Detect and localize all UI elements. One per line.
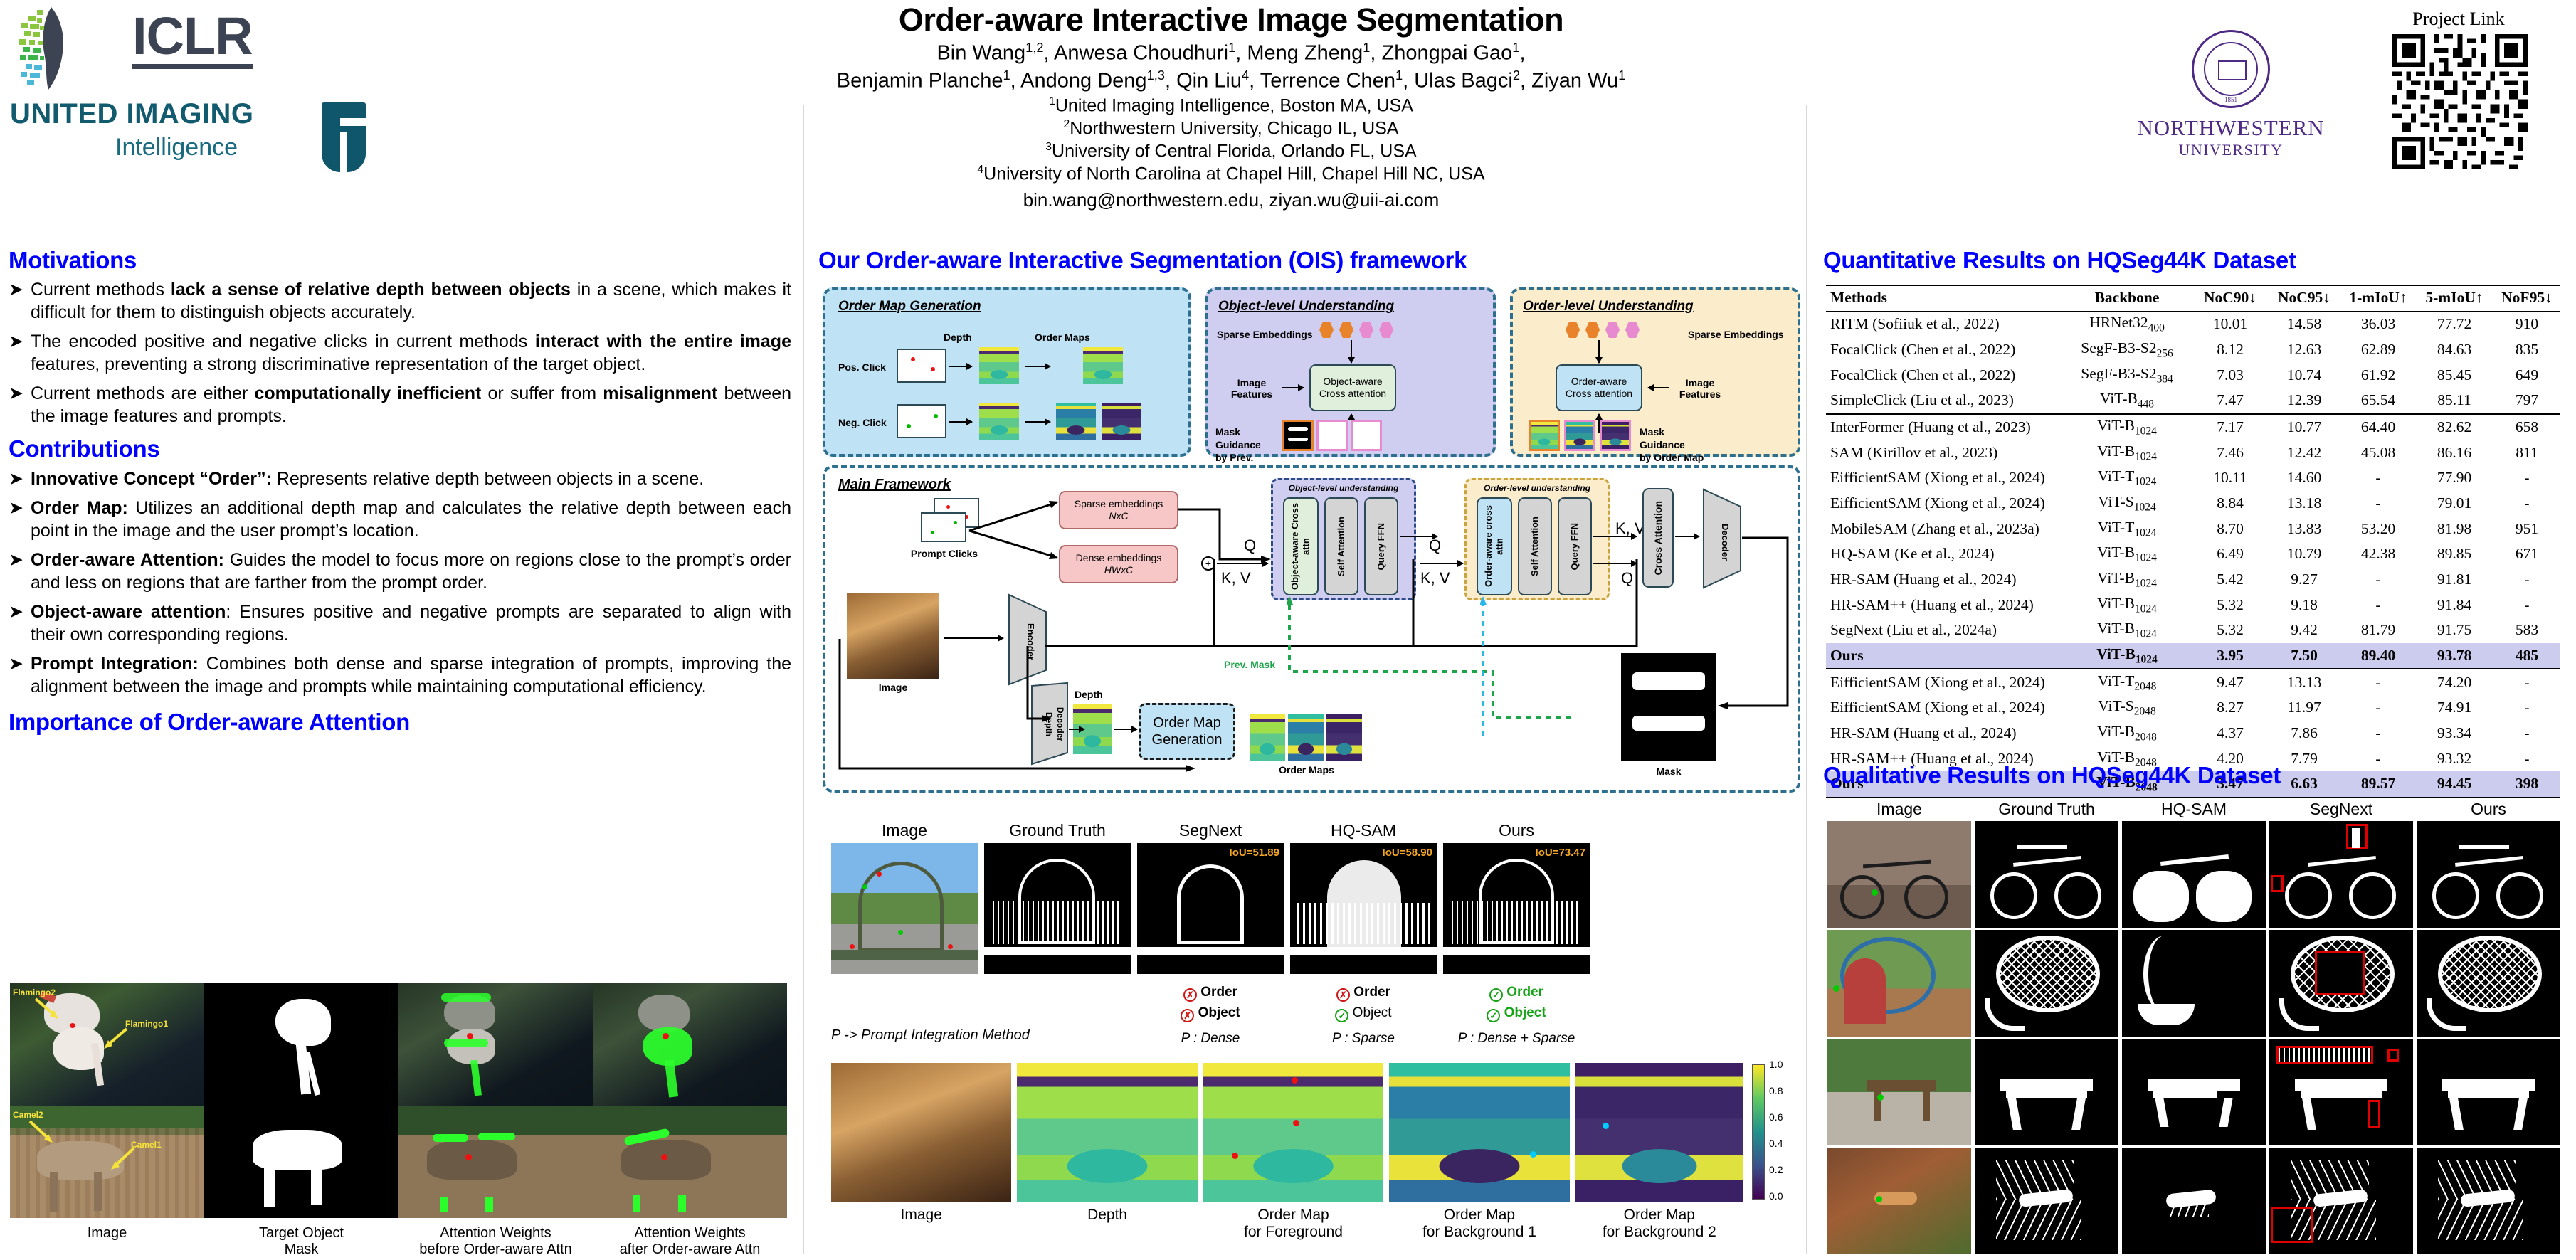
table-cell: HRNet32400 <box>2061 312 2193 337</box>
panel-heading: Order-level Understanding <box>1523 299 1694 314</box>
table-cell: EifficientSAM (Xiong et al., 2024) <box>1826 491 2061 517</box>
panel-heading: Order Map Generation <box>838 299 981 314</box>
row-table-hqsam <box>2122 1039 2266 1145</box>
arrow-icon <box>1282 387 1304 388</box>
om-label-bg2-2: for Background 2 <box>1575 1224 1743 1241</box>
list-item: ➤ Innovative Concept “Order”: Represents… <box>9 468 791 491</box>
row-racket-segnext <box>2269 930 2413 1037</box>
status-order-hqsam: ✗ Order <box>1290 985 1437 1002</box>
error-box-icon <box>2387 1049 2399 1062</box>
table-cell: HR-SAM (Huang et al., 2024) <box>1826 567 2061 593</box>
col-label-attn-before: Attention Weights <box>398 1225 593 1242</box>
table-cell: ViT-S1024 <box>2061 491 2193 517</box>
table-cell: 835 <box>2493 337 2560 363</box>
table-cell: HQ-SAM (Ke et al., 2024) <box>1826 541 2061 567</box>
table-cell: - <box>2493 592 2560 618</box>
table-cell: 74.91 <box>2415 695 2493 721</box>
table-cell: 7.46 <box>2193 440 2267 465</box>
table-cell: 93.34 <box>2415 721 2493 746</box>
table-cell: 93.32 <box>2415 746 2493 771</box>
col-label-attn-after-2: after Order-aware Attn <box>593 1242 787 1258</box>
table-row: HR-SAM (Huang et al., 2024)ViT-B10245.42… <box>1826 567 2560 593</box>
table-cell: ViT-B1024 <box>2061 592 2193 618</box>
table-cell: 11.97 <box>2267 695 2341 721</box>
arrow-icon <box>949 366 972 367</box>
section-title-qualitative-right: Qualitative Results on HQSeg44K Dataset <box>1823 763 2281 788</box>
token-pos-icon <box>1339 322 1353 338</box>
prompt-method-segnext: P : Dense <box>1137 1031 1284 1047</box>
table-cell: 10.01 <box>2193 312 2267 337</box>
table-cell: 61.92 <box>2341 362 2415 388</box>
bullet-arrow-icon: ➤ <box>9 331 23 376</box>
arrow-icon <box>1675 536 1699 537</box>
table-cell: SimpleClick (Liu et al., 2023) <box>1826 388 2061 414</box>
qr-col-hqsam: HQ-SAM <box>2122 800 2266 819</box>
table-cell: EifficientSAM (Xiong et al., 2024) <box>1826 465 2061 491</box>
table-cell: 7.86 <box>2267 721 2341 746</box>
table-cell: 91.75 <box>2415 618 2493 643</box>
arrow-icon <box>1400 536 1437 537</box>
table-cell: 7.03 <box>2193 362 2267 388</box>
group-heading: Order-level understanding <box>1467 483 1608 493</box>
status-object-segnext: ✗ Object <box>1137 1005 1284 1022</box>
order-map-bg2-thumb <box>1102 403 1141 440</box>
col-label-image: Image <box>10 1225 204 1242</box>
check-icon: ✓ <box>1489 988 1503 1002</box>
table-cell: 671 <box>2493 541 2560 567</box>
qr-code[interactable] <box>2392 34 2528 169</box>
table-cell: - <box>2493 746 2560 771</box>
table-cell: 5.32 <box>2193 618 2267 643</box>
decoder-to-mask-path <box>1714 536 1789 710</box>
table-cell: 12.63 <box>2267 337 2341 363</box>
table-cell: FocalClick (Chen et al., 2022) <box>1826 337 2061 363</box>
table-cell: 89.40 <box>2341 643 2415 669</box>
table-cell: ViT-B448 <box>2061 388 2193 414</box>
check-icon: ✓ <box>1487 1009 1500 1022</box>
table-cell: 8.84 <box>2193 491 2267 517</box>
arrow-icon <box>1025 421 1050 423</box>
order-map-bg1-thumb <box>1056 403 1096 440</box>
table-cell: 797 <box>2493 388 2560 414</box>
table-cell: 398 <box>2493 771 2560 797</box>
col-noc90: NoC90↓ <box>2193 285 2267 312</box>
iclr-logo: ICLR <box>10 4 380 95</box>
sparse-embedding-tokens <box>1566 322 1640 338</box>
prompt-branch-arrows <box>966 498 1060 562</box>
table-cell: ViT-B1024 <box>2061 414 2193 440</box>
order-map-thumb <box>1529 420 1560 451</box>
col-backbone: Backbone <box>2061 285 2193 312</box>
panel-heading: Object-level Understanding <box>1218 299 1394 314</box>
table-cell: ViT-B1024 <box>2061 643 2193 669</box>
table-row: InterFormer (Huang et al., 2023)ViT-B102… <box>1826 414 2560 440</box>
qr-col-gt: Ground Truth <box>1975 800 2118 819</box>
row-table-ours <box>2417 1039 2560 1145</box>
arrow-icon <box>1351 340 1352 363</box>
table-cell: 5.42 <box>2193 567 2267 593</box>
order-map-thumb <box>1250 714 1285 761</box>
list-item: ➤ Prompt Integration: Combines both dens… <box>9 653 791 698</box>
row-table-gt <box>1975 1039 2118 1145</box>
importance-figure-labels: Image Target Object Mask Attention Weigh… <box>10 1225 787 1258</box>
section-title-quantitative: Quantitative Results on HQSeg44K Dataset <box>1823 248 2296 273</box>
table-cell: 82.62 <box>2415 414 2493 440</box>
label-pos-click: Pos. Click <box>838 361 886 373</box>
bullet-arrow-icon: ➤ <box>9 653 23 698</box>
table-row: HR-SAM++ (Huang et al., 2024)ViT-B10245.… <box>1826 592 2560 618</box>
object-aware-cross-attention-node: Object-awareCross attention <box>1309 364 1396 411</box>
table-cell: 910 <box>2493 312 2560 337</box>
list-item: ➤ The encoded positive and negative clic… <box>9 331 791 376</box>
qual-hqsam-thumb: IoU=58.90 <box>1290 843 1437 974</box>
panel-order-map-generation: Order Map Generation Depth Order Maps Po… <box>823 287 1191 457</box>
table-cell: 79.01 <box>2415 491 2493 517</box>
table-row: EifficientSAM (Xiong et al., 2024)ViT-T2… <box>1826 669 2560 695</box>
table-cell: - <box>2341 491 2415 517</box>
cbar-tick: 0.0 <box>1769 1190 1783 1202</box>
table-cell: - <box>2341 465 2415 491</box>
col-nof95: NoF95↓ <box>2493 285 2560 312</box>
col-5miou: 5-mIoU↑ <box>2415 285 2493 312</box>
table-cell: 81.79 <box>2341 618 2415 643</box>
group-heading: Object-level understanding <box>1273 483 1414 493</box>
om-label-image: Image <box>831 1207 1011 1224</box>
table-cell: - <box>2493 465 2560 491</box>
table-cell: 81.98 <box>2415 516 2493 541</box>
row-bicycle-hqsam <box>2122 821 2266 928</box>
mask-thumb-outline <box>1351 420 1382 451</box>
bullet-arrow-icon: ➤ <box>9 601 23 646</box>
row-racket-hqsam <box>2122 930 2266 1037</box>
bullet-arrow-icon: ➤ <box>9 468 23 491</box>
table-cell: 9.47 <box>2193 669 2267 695</box>
status-object-hqsam: ✓ Object <box>1290 1005 1437 1022</box>
prompt-integration-note: P -> Prompt Integration Method <box>831 1027 1030 1044</box>
token-neg-icon <box>1379 322 1393 338</box>
prompt-click-card-front <box>921 512 966 542</box>
check-icon: ✓ <box>1335 1009 1348 1022</box>
table-cell: 4.37 <box>2193 721 2267 746</box>
panel-order-level-understanding: Order-level Understanding Sparse Embeddi… <box>1510 287 1800 457</box>
mask-thumb-prev <box>1282 420 1314 451</box>
iou-badge: IoU=73.47 <box>1536 847 1585 859</box>
mask-thumb-outline <box>1316 420 1348 451</box>
table-cell: 7.50 <box>2267 643 2341 669</box>
cbar-tick: 0.2 <box>1769 1164 1783 1175</box>
table-cell: - <box>2493 491 2560 517</box>
uii-shield-icon <box>322 102 366 172</box>
label-prev-mask: Prev. Mask <box>1224 659 1275 670</box>
col-label-ours: Ours <box>1443 821 1590 840</box>
table-cell: - <box>2341 567 2415 593</box>
table-row: OursViT-B10243.957.5089.4093.78485 <box>1826 643 2560 669</box>
bullet-arrow-icon: ➤ <box>9 383 23 428</box>
annotation-camel2: Camel2 <box>13 1110 43 1120</box>
status-object-ours: ✓ Object <box>1443 1005 1590 1022</box>
table-cell: 89.85 <box>2415 541 2493 567</box>
order-map-thumb <box>1083 347 1123 384</box>
cbar-tick: 0.6 <box>1769 1111 1783 1123</box>
table-cell: 9.18 <box>2267 592 2341 618</box>
qual-segnext-thumb: IoU=51.89 <box>1137 843 1284 974</box>
table-cell: 94.45 <box>2415 771 2493 797</box>
row-bicycle-gt <box>1975 821 2118 928</box>
author-line-1: Bin Wang1,2, Anwesa Choudhuri1, Meng Zhe… <box>683 40 1779 65</box>
arrow-icon <box>1598 340 1600 363</box>
flamingo-mask <box>204 983 398 1106</box>
table-cell: 77.90 <box>2415 465 2493 491</box>
section-title-importance: Importance of Order-aware Attention <box>9 709 791 735</box>
cbar-tick: 0.8 <box>1769 1085 1783 1096</box>
order-map-thumb <box>1600 420 1631 451</box>
om-background1-thumb <box>1389 1063 1569 1202</box>
table-cell: 485 <box>2493 643 2560 669</box>
table-row: RITM (Sofiiuk et al., 2022)HRNet3240010.… <box>1826 312 2560 337</box>
table-cell: 64.40 <box>2341 414 2415 440</box>
table-row: FocalClick (Chen et al., 2022)SegF-B3-S2… <box>1826 337 2560 363</box>
northwestern-logo: 1851 NORTHWESTERN UNIVERSITY <box>2135 30 2327 159</box>
affiliation-4: 4University of North Carolina at Chapel … <box>683 164 1779 184</box>
row-centipede-gt <box>1975 1148 2118 1254</box>
iclr-logo-mark <box>16 6 70 91</box>
table-cell: - <box>2341 695 2415 721</box>
col-label-segnext: SegNext <box>1137 821 1284 840</box>
iou-badge: IoU=58.90 <box>1383 847 1432 859</box>
cross-icon: ✗ <box>1183 988 1197 1002</box>
qual-image-thumb <box>831 843 978 974</box>
table-cell: - <box>2341 592 2415 618</box>
importance-figure: Flamingo2 Flamingo1 Camel2 Camel1 <box>10 983 787 1218</box>
list-item: ➤ Object-aware attention: Ensures positi… <box>9 601 791 646</box>
om-foreground-thumb <box>1203 1063 1383 1202</box>
table-cell: 658 <box>2493 414 2560 440</box>
prompt-method-ours: P : Dense + Sparse <box>1443 1031 1590 1047</box>
united-imaging-logo: UNITED IMAGING Intelligence <box>10 100 423 178</box>
contributions-list: ➤ Innovative Concept “Order”: Represents… <box>9 468 791 699</box>
qual-right-figure: Image Ground Truth HQ-SAM SegNext Ours <box>1827 800 2565 1254</box>
attention-after-flamingo <box>593 983 787 1106</box>
contact-emails[interactable]: bin.wang@northwestern.edu, ziyan.wu@uii-… <box>683 189 1779 211</box>
table-cell: 62.89 <box>2341 337 2415 363</box>
col-label-attn-after: Attention Weights <box>593 1225 787 1242</box>
panel-heading: Main Framework <box>838 477 951 493</box>
table-cell: 811 <box>2493 440 2560 465</box>
table-cell: 10.11 <box>2193 465 2267 491</box>
table-cell: - <box>2341 721 2415 746</box>
table-cell: 45.08 <box>2341 440 2415 465</box>
attention-after-camel <box>593 1106 787 1218</box>
col-label-target-object-2: Mask <box>204 1242 398 1258</box>
table-cell: 53.20 <box>2341 516 2415 541</box>
col-label-target-object: Target Object <box>204 1225 398 1242</box>
table-cell: SAM (Kirillov et al., 2023) <box>1826 440 2061 465</box>
table-cell: RITM (Sofiiuk et al., 2022) <box>1826 312 2061 337</box>
sparse-embeddings-node: Sparse embeddingsNxC <box>1059 491 1178 529</box>
table-cell: ViT-S2048 <box>2061 695 2193 721</box>
table-cell: 12.42 <box>2267 440 2341 465</box>
cross-attention-block: Cross Attention <box>1642 488 1674 588</box>
uii-line2: Intelligence <box>115 135 423 159</box>
motivations-list: ➤ Current methods lack a sense of relati… <box>9 279 791 428</box>
label-order-maps: Order Maps <box>1035 332 1090 343</box>
panel-object-level-understanding: Object-level Understanding Sparse Embedd… <box>1205 287 1496 457</box>
table-cell: 65.54 <box>2341 388 2415 414</box>
col-label-attn-before-2: before Order-aware Attn <box>398 1242 593 1258</box>
table-cell: 649 <box>2493 362 2560 388</box>
quantitative-results-table: Methods Backbone NoC90↓ NoC95↓ 1-mIoU↑ 5… <box>1826 285 2560 798</box>
table-cell: 9.27 <box>2267 567 2341 593</box>
table-cell: 89.57 <box>2341 771 2415 797</box>
token-pos-icon <box>1566 322 1580 338</box>
table-cell: 8.70 <box>2193 516 2267 541</box>
author-line-2: Benjamin Planche1, Andong Deng1,3, Qin L… <box>683 68 1779 93</box>
om-image-thumb <box>831 1063 1011 1202</box>
table-cell: ViT-B1024 <box>2061 567 2193 593</box>
table-row: EifficientSAM (Xiong et al., 2024)ViT-S2… <box>1826 695 2560 721</box>
cross-icon: ✗ <box>1336 988 1350 1002</box>
table-cell: 951 <box>2493 516 2560 541</box>
table-cell: - <box>2341 746 2415 771</box>
list-item: ➤ Order Map: Utilizes an additional dept… <box>9 497 791 542</box>
table-cell: EifficientSAM (Xiong et al., 2024) <box>1826 669 2061 695</box>
row-bicycle-image <box>1827 821 1971 928</box>
row-bicycle-ours <box>2417 821 2560 928</box>
table-cell: 42.38 <box>2341 541 2415 567</box>
table-cell: SegNext (Liu et al., 2024a) <box>1826 618 2061 643</box>
output-mask-thumb <box>1621 653 1716 761</box>
table-cell: 85.45 <box>2415 362 2493 388</box>
table-cell: 77.72 <box>2415 312 2493 337</box>
label-image-features: ImageFeatures <box>1225 377 1278 400</box>
error-box-icon <box>2368 1100 2380 1128</box>
iou-badge: IoU=51.89 <box>1230 847 1279 859</box>
qual-gt-thumb <box>984 843 1131 974</box>
section-title-contributions: Contributions <box>9 436 791 462</box>
token-neg-icon <box>1605 322 1620 338</box>
label-mask: Mask <box>1621 766 1716 777</box>
table-row: EifficientSAM (Xiong et al., 2024)ViT-S1… <box>1826 491 2560 517</box>
order-map-row-figure: 1.0 0.8 0.6 0.4 0.2 0.0 Image Depth Orde… <box>831 1063 1799 1241</box>
page-title: Order-aware Interactive Image Segmentati… <box>683 1 1779 38</box>
annotation-flamingo1: Flamingo1 <box>125 1019 168 1029</box>
col-label-ground-truth: Ground Truth <box>984 821 1131 840</box>
table-cell: 9.42 <box>2267 618 2341 643</box>
annotation-flamingo2: Flamingo2 <box>13 988 56 997</box>
label-mask-guidance: Mask Guidanceby Order Map <box>1640 425 1711 465</box>
col-label-hqsam: HQ-SAM <box>1290 821 1437 840</box>
row-bicycle-segnext <box>2269 821 2413 928</box>
flamingo-photo: Flamingo2 Flamingo1 <box>10 983 204 1106</box>
list-item: ➤ Order-aware Attention: Guides the mode… <box>9 549 791 594</box>
label-neg-click: Neg. Click <box>838 417 887 428</box>
col-methods: Methods <box>1826 285 2061 312</box>
sparse-embedding-tokens <box>1319 322 1393 338</box>
cross-icon: ✗ <box>1181 1009 1194 1022</box>
label-q-1: Q <box>1244 536 1256 555</box>
token-neg-icon <box>1625 322 1640 338</box>
seal-year: 1851 <box>2194 96 2268 103</box>
qual-ours-thumb: IoU=73.47 <box>1443 843 1590 974</box>
error-box-icon <box>2271 875 2284 892</box>
bullet-arrow-icon: ➤ <box>9 549 23 594</box>
om-depth-thumb <box>1017 1063 1197 1202</box>
bullet-arrow-icon: ➤ <box>9 279 23 324</box>
table-cell: SegF-B3-S2384 <box>2061 362 2193 388</box>
list-item: ➤ Current methods are either computation… <box>9 383 791 428</box>
table-cell: 6.49 <box>2193 541 2267 567</box>
table-row: SAM (Kirillov et al., 2023)ViT-B10247.46… <box>1826 440 2560 465</box>
status-order-segnext: ✗ Order <box>1137 985 1284 1002</box>
row-centipede-ours <box>2417 1148 2560 1254</box>
col-noc95: NoC95↓ <box>2267 285 2341 312</box>
table-cell: HR-SAM (Huang et al., 2024) <box>1826 721 2061 746</box>
table-cell: InterFormer (Huang et al., 2023) <box>1826 414 2061 440</box>
table-cell: 8.12 <box>2193 337 2267 363</box>
affiliation-1: 1United Imaging Intelligence, Boston MA,… <box>683 95 1779 116</box>
row-racket-gt <box>1975 930 2118 1037</box>
depth-thumb <box>979 347 1019 384</box>
table-cell: 86.16 <box>2415 440 2493 465</box>
table-cell: 12.39 <box>2267 388 2341 414</box>
table-cell: MobileSAM (Zhang et al., 2023a) <box>1826 516 2061 541</box>
table-cell: - <box>2493 669 2560 695</box>
camel-photo: Camel2 Camel1 <box>10 1106 204 1218</box>
annotation-camel1: Camel1 <box>131 1140 162 1150</box>
affiliation-3: 3University of Central Florida, Orlando … <box>683 141 1779 162</box>
northwestern-name: NORTHWESTERN <box>2135 115 2327 141</box>
table-cell: 85.11 <box>2415 388 2493 414</box>
row-racket-image <box>1827 930 1971 1037</box>
section-title-motivations: Motivations <box>9 248 791 273</box>
row-racket-ours <box>2417 930 2560 1037</box>
table-cell: ViT-B1024 <box>2061 440 2193 465</box>
om-label-bg1-1: Order Map <box>1389 1207 1569 1224</box>
label-sparse-embeddings: Sparse Embeddings <box>1688 329 1784 340</box>
table-row: MobileSAM (Zhang et al., 2023a)ViT-T1024… <box>1826 516 2560 541</box>
bullet-arrow-icon: ➤ <box>9 497 23 542</box>
table-cell: 91.84 <box>2415 592 2493 618</box>
table-cell: 13.83 <box>2267 516 2341 541</box>
table-cell: 7.47 <box>2193 388 2267 414</box>
attention-before-flamingo <box>398 983 593 1106</box>
label-sparse-embeddings: Sparse Embeddings <box>1217 329 1313 340</box>
table-row: SegNext (Liu et al., 2024a)ViT-B10245.32… <box>1826 618 2560 643</box>
pos-click-canvas <box>897 349 946 383</box>
table-cell: 36.03 <box>2341 312 2415 337</box>
table-cell: Ours <box>1826 643 2061 669</box>
table-cell: 8.27 <box>2193 695 2267 721</box>
table-cell: ViT-T1024 <box>2061 465 2193 491</box>
label-depth: Depth <box>944 332 972 343</box>
table-row: SimpleClick (Liu et al., 2023)ViT-B4487.… <box>1826 388 2560 414</box>
col-label-image: Image <box>831 821 978 840</box>
qr-col-segnext: SegNext <box>2269 800 2413 819</box>
table-cell: ViT-B1024 <box>2061 541 2193 567</box>
table-cell: FocalClick (Chen et al., 2022) <box>1826 362 2061 388</box>
token-neg-icon <box>1359 322 1373 338</box>
order-map-thumb <box>1564 420 1595 451</box>
om-background2-thumb <box>1575 1063 1743 1202</box>
northwestern-seal-icon: 1851 <box>2192 30 2270 108</box>
row-table-segnext <box>2269 1039 2413 1145</box>
error-box-icon <box>2315 951 2365 995</box>
order-aware-cross-attention-node: Order-awareCross attention <box>1556 364 1642 411</box>
row-centipede-segnext <box>2269 1148 2413 1254</box>
table-cell: 13.18 <box>2267 491 2341 517</box>
cbar-tick: 0.4 <box>1769 1138 1783 1149</box>
table-cell: 583 <box>2493 618 2560 643</box>
